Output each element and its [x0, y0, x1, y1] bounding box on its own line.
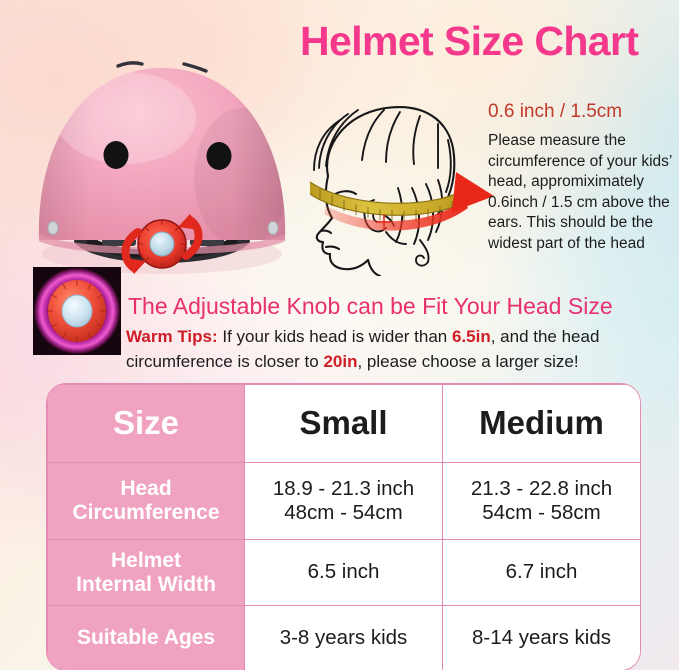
- table-row-header: Size Small Medium: [48, 385, 641, 463]
- table-row-suitable-ages: Suitable Ages 3-8 years kids 8-14 years …: [48, 606, 641, 670]
- knob-headline: The Adjustable Knob can be Fit Your Head…: [128, 293, 613, 320]
- helmet-adjust-knob: [138, 220, 186, 268]
- knob-closeup-illustration: [33, 267, 121, 355]
- helmet-size-chart-page: Helmet Size Chart: [0, 0, 679, 670]
- table-header-medium: Medium: [443, 385, 641, 463]
- warm-tips-prefix: Warm Tips:: [126, 327, 218, 346]
- table-value-medium-circumference: 21.3 - 22.8 inch 54cm - 58cm: [443, 463, 641, 540]
- head-measure-diagram: [288, 84, 500, 276]
- page-title: Helmet Size Chart: [300, 18, 638, 65]
- measure-instructions: Please measure the circumference of your…: [488, 131, 673, 254]
- table-label-suitable-ages: Suitable Ages: [48, 606, 245, 670]
- label-line-1: Head: [52, 477, 240, 501]
- warm-tips-part3: , please choose a larger size!: [357, 352, 578, 371]
- table-row-internal-width: Helmet Internal Width 6.5 inch 6.7 inch: [48, 540, 641, 606]
- value-line-1: 18.9 - 21.3 inch: [249, 477, 438, 501]
- helmet-photo: [14, 28, 310, 280]
- table-value-small-width: 6.5 inch: [245, 540, 443, 606]
- size-table: Size Small Medium Head Circumference 18.…: [47, 384, 640, 670]
- hair-strands: [314, 110, 451, 266]
- helmet-illustration: [14, 28, 310, 280]
- table-row-head-circumference: Head Circumference 18.9 - 21.3 inch 48cm…: [48, 463, 641, 540]
- value-line-1: 21.3 - 22.8 inch: [447, 477, 636, 501]
- head-profile-illustration: [288, 84, 500, 276]
- label-line-2: Internal Width: [52, 573, 240, 597]
- table-header-small: Small: [245, 385, 443, 463]
- label-line-1: Helmet: [52, 549, 240, 573]
- table-label-head-circumference: Head Circumference: [48, 463, 245, 540]
- measure-headline: 0.6 inch / 1.5cm: [488, 101, 622, 123]
- table-label-internal-width: Helmet Internal Width: [48, 540, 245, 606]
- value-line-2: 48cm - 54cm: [249, 501, 438, 525]
- warm-tips-part1: If your kids head is wider than: [218, 327, 452, 346]
- table-value-small-circumference: 18.9 - 21.3 inch 48cm - 54cm: [245, 463, 443, 540]
- label-line-2: Circumference: [52, 501, 240, 525]
- table-value-medium-width: 6.7 inch: [443, 540, 641, 606]
- size-table-grid: Size Small Medium Head Circumference 18.…: [47, 384, 640, 670]
- warm-tips-text: Warm Tips: If your kids head is wider th…: [126, 324, 674, 374]
- value-line-2: 54cm - 58cm: [447, 501, 636, 525]
- warm-tips-value-circumference: 20in: [323, 352, 357, 371]
- table-header-size: Size: [48, 385, 245, 463]
- table-value-medium-ages: 8-14 years kids: [443, 606, 641, 670]
- warm-tips-value-width: 6.5in: [452, 327, 491, 346]
- adjustable-knob-photo: [33, 267, 121, 355]
- table-value-small-ages: 3-8 years kids: [245, 606, 443, 670]
